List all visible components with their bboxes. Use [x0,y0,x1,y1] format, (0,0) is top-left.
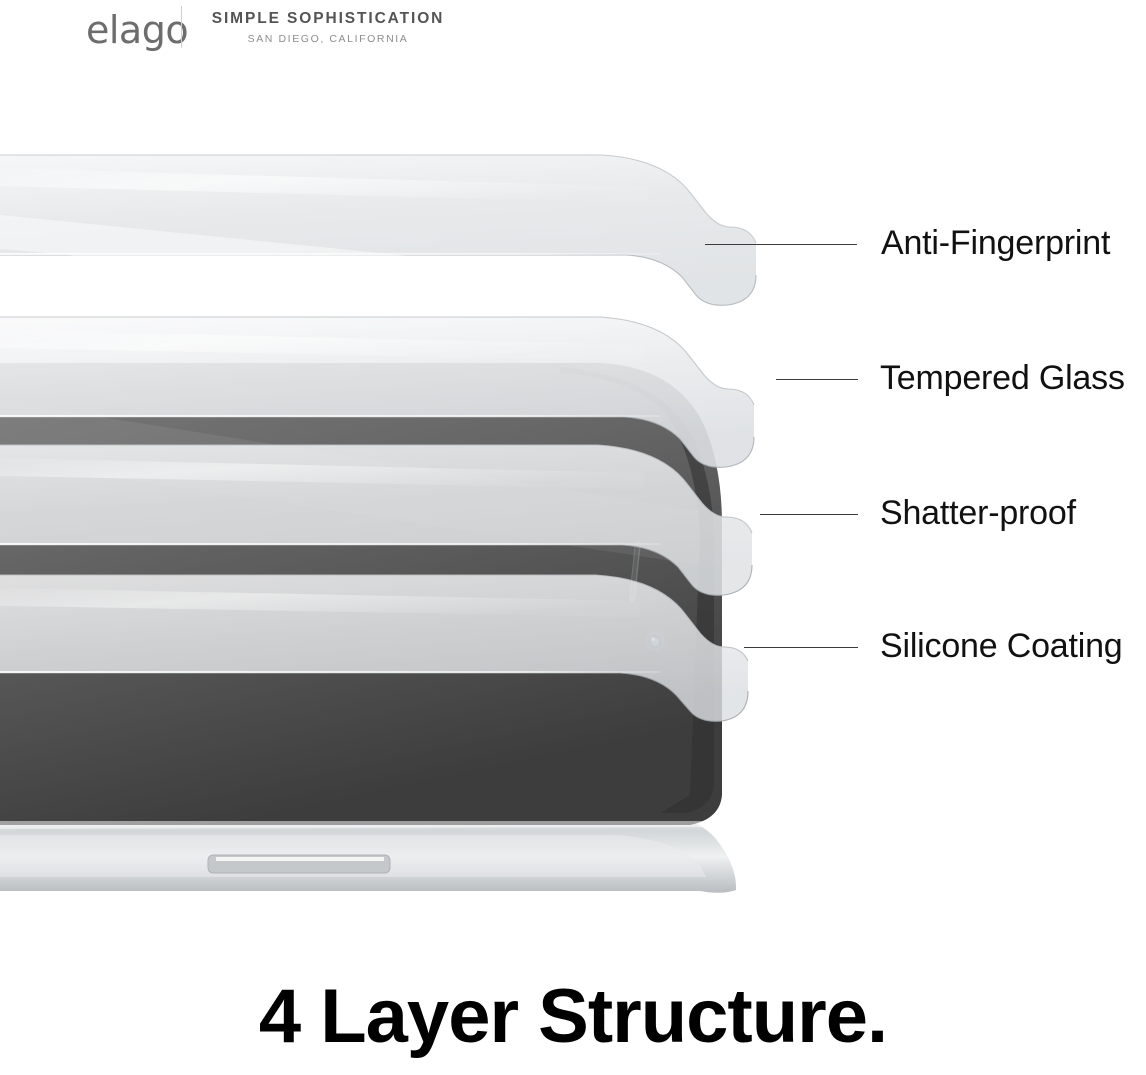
leader-line-tempered-glass [776,379,858,380]
callout-label-silicone-coating: Silicone Coating [880,629,1123,663]
headline-4-layer-structure: 4 Layer Structure. [0,975,1146,1059]
callout-label-anti-fingerprint: Anti-Fingerprint [881,226,1110,260]
leader-line-anti-fingerprint [705,244,857,245]
brand-header: elago SIMPLE SOPHISTICATION SAN DIEGO, C… [0,0,1146,70]
leader-line-shatter-proof [760,514,858,515]
tagline-primary: SIMPLE SOPHISTICATION [208,9,448,29]
elago-logo: elago [86,8,188,52]
callout-label-shatter-proof: Shatter-proof [880,496,1076,530]
tagline-location: SAN DIEGO, CALIFORNIA [208,31,448,47]
product-infographic: elago SIMPLE SOPHISTICATION SAN DIEGO, C… [0,0,1146,1075]
phone-side-button [208,855,390,873]
header-divider [181,6,182,48]
callout-label-tempered-glass: Tempered Glass [880,361,1125,395]
leader-line-silicone-coating [744,647,858,648]
layer-sheet-antifingerprint [0,155,756,309]
brand-tagline: SIMPLE SOPHISTICATION SAN DIEGO, CALIFOR… [208,9,448,47]
